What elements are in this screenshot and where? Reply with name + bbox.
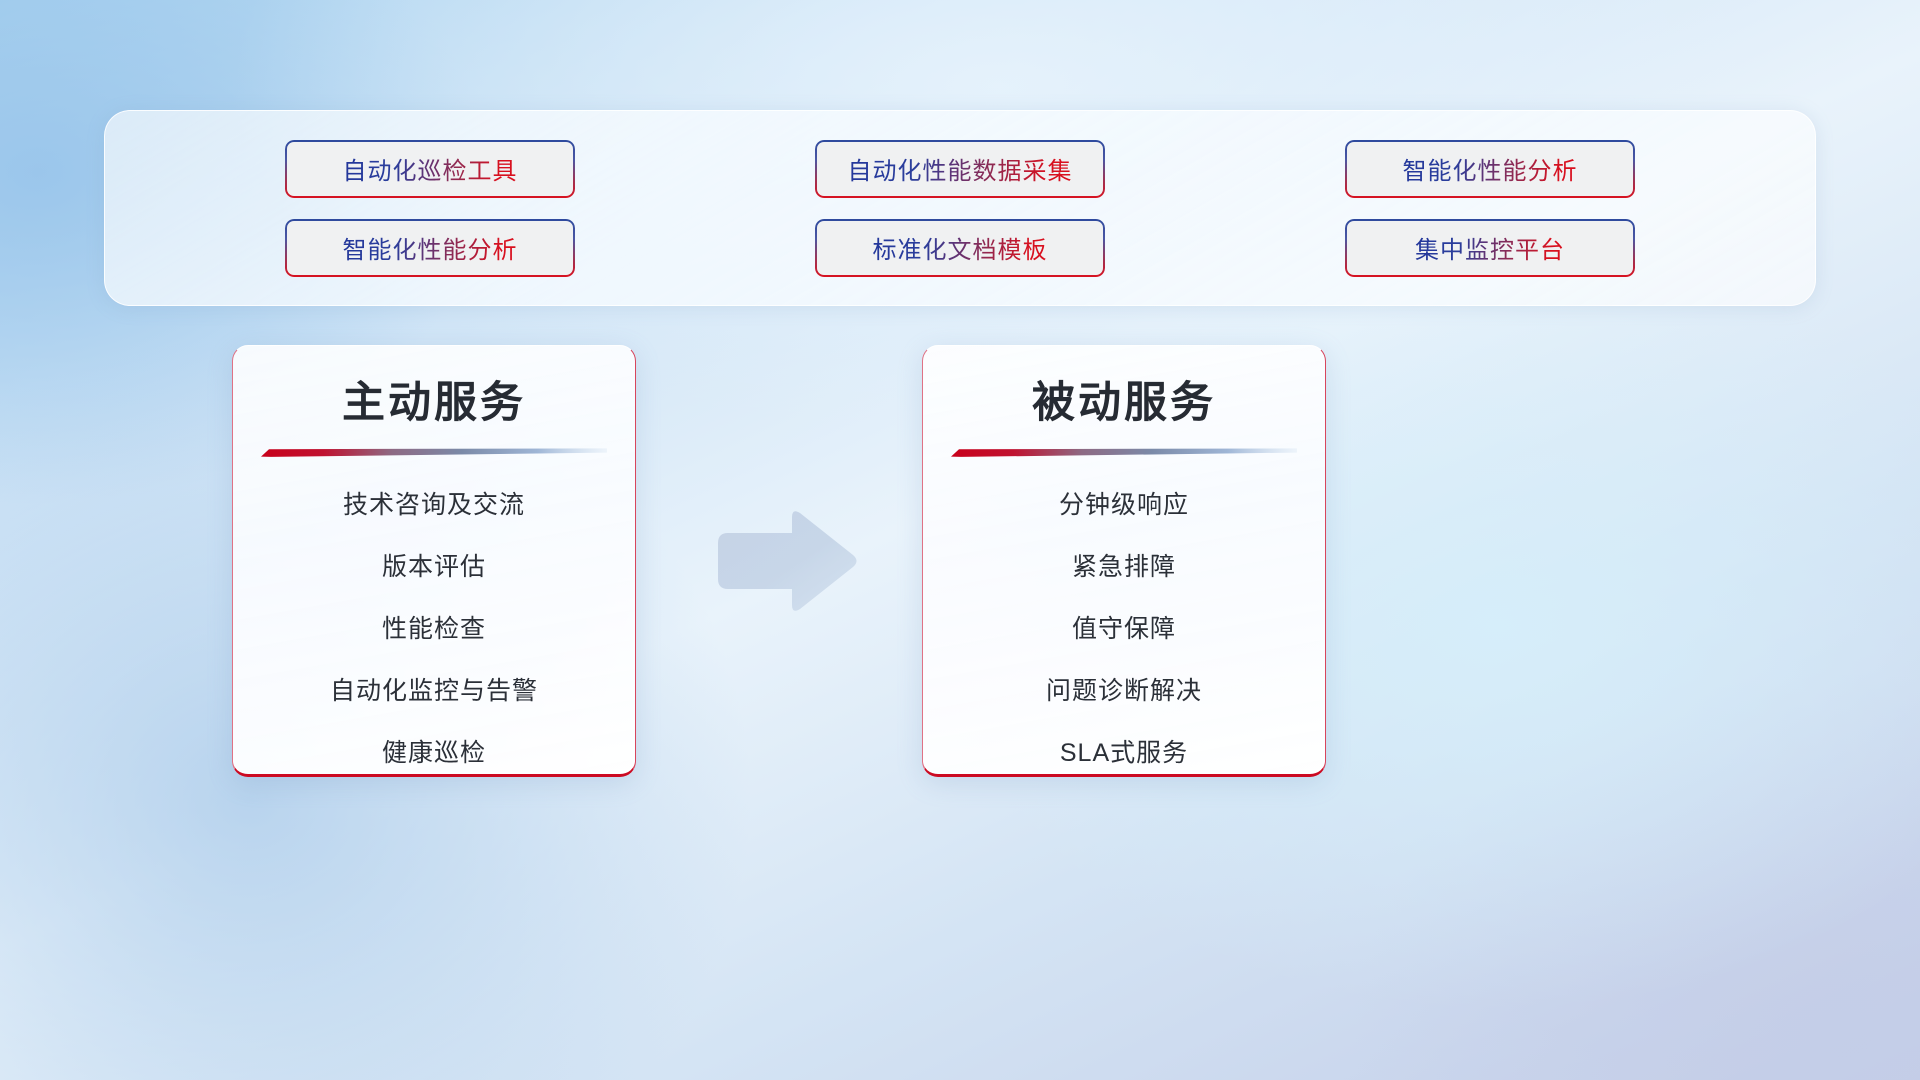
capability-pill[interactable]: 标准化文档模板 bbox=[815, 219, 1105, 277]
service-item: 版本评估 bbox=[382, 547, 486, 583]
capability-pill[interactable]: 智能化性能分析 bbox=[285, 219, 575, 277]
capability-pill[interactable]: 智能化性能分析 bbox=[1345, 140, 1635, 198]
service-item: SLA式服务 bbox=[1060, 733, 1188, 769]
service-item: 值守保障 bbox=[1072, 609, 1176, 645]
capability-pill-label: 集中监控平台 bbox=[1415, 230, 1565, 265]
service-item: 分钟级响应 bbox=[1059, 485, 1189, 521]
service-item: 技术咨询及交流 bbox=[343, 485, 525, 521]
capability-pill[interactable]: 自动化性能数据采集 bbox=[815, 140, 1105, 198]
service-item: 紧急排障 bbox=[1072, 547, 1176, 583]
service-item-list: 技术咨询及交流 版本评估 性能检查 自动化监控与告警 健康巡检 bbox=[233, 485, 635, 769]
service-item: 问题诊断解决 bbox=[1046, 671, 1202, 707]
capability-pill-grid: 自动化巡检工具 自动化性能数据采集 智能化性能分析 智能化性能分析 标准化文档模… bbox=[105, 111, 1815, 305]
service-item-list: 分钟级响应 紧急排障 值守保障 问题诊断解决 SLA式服务 bbox=[923, 485, 1325, 769]
service-card-proactive: 主动服务 技术咨询及交流 版本评估 性能检查 bbox=[232, 345, 636, 777]
diagram-canvas: 自动化巡检工具 自动化性能数据采集 智能化性能分析 智能化性能分析 标准化文档模… bbox=[0, 0, 1920, 1080]
capability-pill[interactable]: 自动化巡检工具 bbox=[285, 140, 575, 198]
capability-pill-label: 智能化性能分析 bbox=[1403, 151, 1578, 186]
title-divider bbox=[951, 448, 1297, 457]
service-card-title: 被动服务 bbox=[923, 368, 1325, 430]
capability-pill-label: 标准化文档模板 bbox=[873, 230, 1048, 265]
arrow-right-icon bbox=[710, 505, 860, 617]
title-divider bbox=[261, 448, 607, 457]
capability-pill-label: 自动化性能数据采集 bbox=[848, 151, 1073, 186]
service-item: 性能检查 bbox=[382, 609, 486, 645]
capability-panel: 自动化巡检工具 自动化性能数据采集 智能化性能分析 智能化性能分析 标准化文档模… bbox=[104, 110, 1816, 306]
capability-pill-label: 智能化性能分析 bbox=[343, 230, 518, 265]
capability-pill-label: 自动化巡检工具 bbox=[343, 151, 518, 186]
service-item: 健康巡检 bbox=[382, 733, 486, 769]
capability-pill[interactable]: 集中监控平台 bbox=[1345, 219, 1635, 277]
service-card-reactive: 被动服务 分钟级响应 紧急排障 值守保障 bbox=[922, 345, 1326, 777]
service-item: 自动化监控与告警 bbox=[330, 671, 538, 707]
service-card-title: 主动服务 bbox=[233, 368, 635, 430]
